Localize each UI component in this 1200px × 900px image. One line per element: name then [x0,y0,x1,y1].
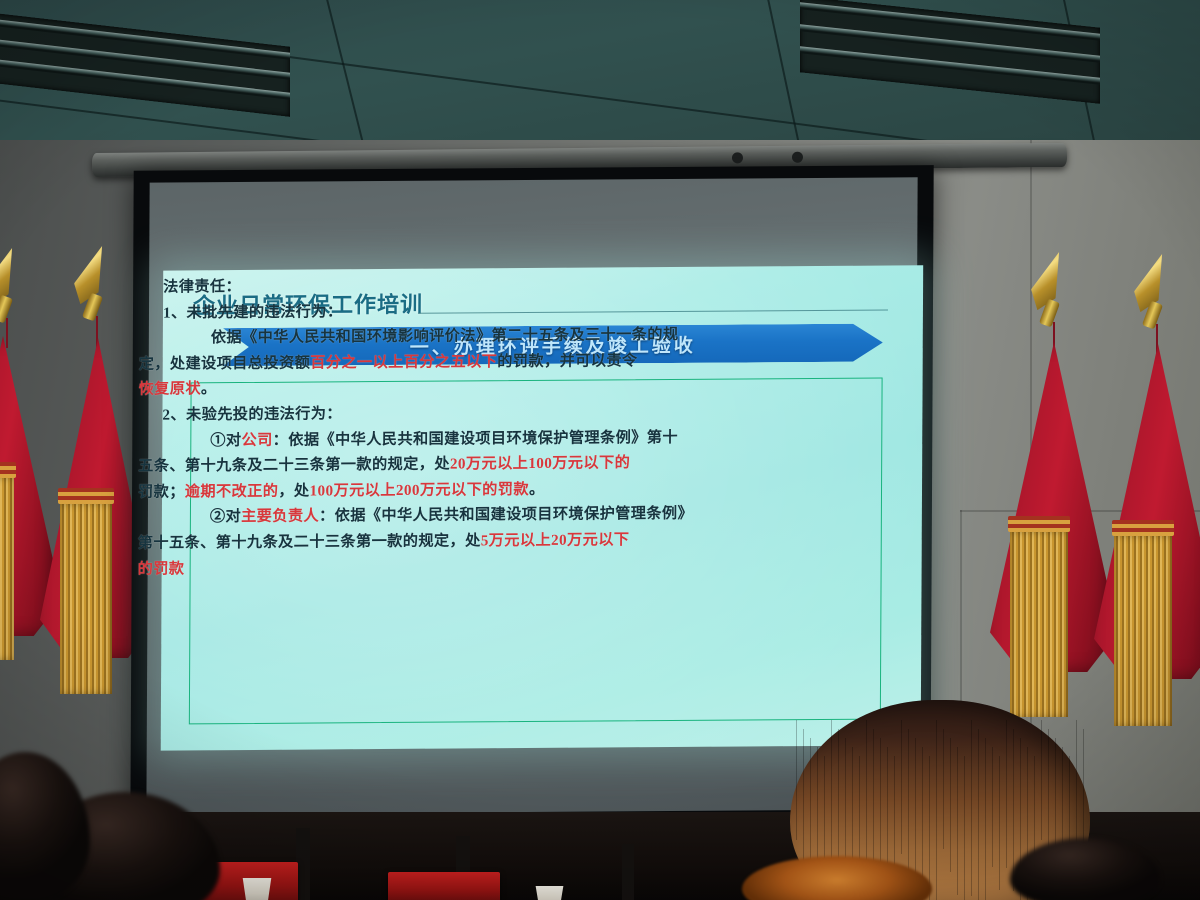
body-text: 。 [201,381,217,398]
body-text: ：依据《中华人民共和国建设项目环境保护管理条例》第十 [273,429,678,449]
hair-strand [999,756,1000,890]
highlighted-text: 逾期不改正的 [185,483,279,501]
hair-strand [1041,720,1042,840]
hair-strand [985,738,986,900]
highlighted-text: 公司 [241,431,272,448]
hair-strand [901,720,902,854]
slide-body-text: 法律责任：1、未批先建的违法行为：依据《中华人民共和国环境影响评价法》第二十五条… [138,270,880,582]
chair-post-3 [622,844,634,900]
hair-strand [894,756,895,876]
body-text: 五条、第十九条及二十三条第一款的规定，处 [138,456,450,475]
body-text: 的罚款，并可以责令 [497,352,637,370]
body-text: ②对 [210,508,241,525]
highlighted-text: 百分之一以上百分之五以下 [310,353,497,371]
hair-strand [936,720,937,900]
highlighted-text: 5万元以上20万元以下 [481,531,630,549]
body-text: 第十五条、第十九条及二十三条第一款的规定，处 [138,532,481,551]
projection-screen: 企业日常环保工作培训 一、办理环评手续及竣工验收 法律责任：1、未批先建的违法行… [130,165,933,831]
chair-post-1 [296,828,310,900]
hair-strand [1006,720,1007,868]
conference-room-photo: 企业日常环保工作培训 一、办理环评手续及竣工验收 法律责任：1、未批先建的违法行… [0,0,1200,900]
hair-strand [992,747,993,867]
hair-strand [971,720,972,896]
hair-strand [978,729,979,900]
hair-strand [908,729,909,877]
body-text: 法律责任： [163,278,241,296]
chair-back-2 [388,872,500,900]
hair-strand [950,738,951,872]
ceiling-air-vent-left [0,9,290,117]
slide-body-line: 的罚款 [138,551,878,582]
body-text: ：依据《中华人民共和国建设项目环境保护管理条例》 [319,505,693,525]
projected-slide: 企业日常环保工作培训 一、办理环评手续及竣工验收 法律责任：1、未批先建的违法行… [161,265,923,750]
ceiling [0,0,1200,150]
hair-strand [957,747,958,895]
hair-strand [943,729,944,849]
paper-cup-2 [533,886,566,900]
screen-surface: 企业日常环保工作培训 一、办理环评手续及竣工验收 法律责任：1、未批先建的违法行… [146,177,917,814]
body-text: 罚款； [138,483,185,500]
highlighted-text: 恢复原状 [139,381,201,398]
hair-strand [964,756,965,900]
hair-strand [845,738,846,858]
hair-strand [803,729,804,863]
hair-strand [929,756,930,900]
body-text: 定，处建设项目总投资额 [139,354,311,372]
ceiling-air-vent-right [800,0,1100,104]
body-text: 。 [529,481,545,498]
body-text: 2、未验先投的违法行为： [162,405,342,423]
hair-strand [796,720,797,840]
highlighted-text: 20万元以上100万元以下的 [450,454,630,472]
highlighted-text: 主要负责人 [241,508,319,526]
body-text: ，处 [278,482,309,499]
highlighted-text: 100万元以上200万元以下的罚款 [309,481,529,500]
body-text: ①对 [210,432,241,449]
highlighted-text: 的罚款 [138,560,185,577]
body-text: 依据《中华人民共和国环境影响评价法》第二十五条及三十一条的规 [211,326,679,346]
body-text: 1、未批先建的违法行为： [163,303,343,321]
